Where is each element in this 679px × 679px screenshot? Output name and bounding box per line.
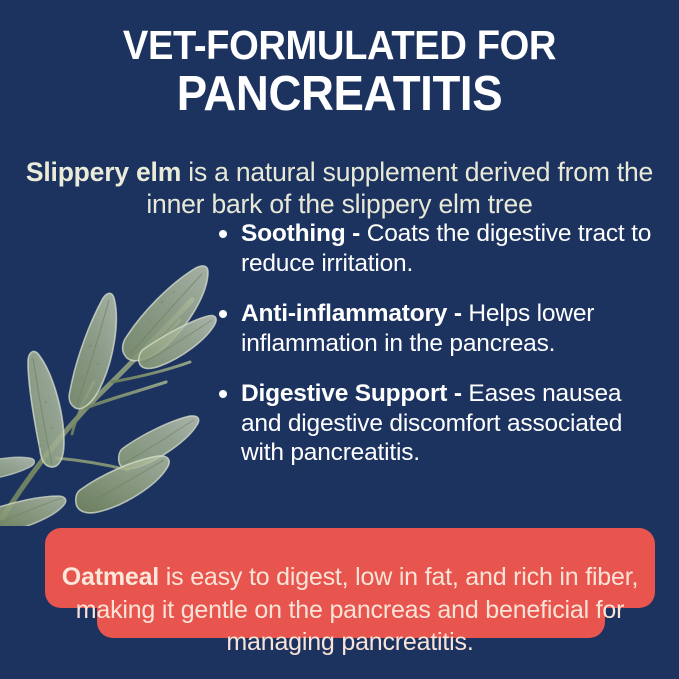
title-line-1: VET-FORMULATED FOR [24, 22, 655, 68]
subtitle-lead: Slippery elm [26, 157, 181, 187]
callout-lead: Oatmeal [62, 563, 159, 591]
callout-rest: is easy to digest, low in fat, and rich … [76, 563, 638, 656]
leaf-branch-icon [0, 196, 224, 526]
callout-text: Oatmeal is easy to digest, low in fat, a… [45, 561, 655, 659]
title-line-2: PANCREATITIS [24, 68, 655, 121]
benefit-term: Soothing - [241, 220, 367, 247]
list-item: Soothing - Coats the digestive tract to … [213, 219, 665, 278]
page-title: VET-FORMULATED FOR PANCREATITIS [0, 22, 679, 121]
list-item: Digestive Support - Eases nausea and dig… [213, 379, 665, 468]
benefits-list: Soothing - Coats the digestive tract to … [213, 219, 665, 468]
bullet-dot-icon [219, 310, 227, 318]
bullet-dot-icon [219, 390, 227, 398]
pancreatitis-supplement-infographic: VET-FORMULATED FOR PANCREATITIS Slippery… [0, 0, 679, 679]
subtitle-rest: is a natural supplement derived from the… [146, 157, 653, 219]
benefit-term: Digestive Support - [241, 380, 468, 407]
bullet-dot-icon [219, 230, 227, 238]
benefit-term: Anti-inflammatory - [241, 300, 468, 327]
subtitle: Slippery elm is a natural supplement der… [14, 156, 665, 220]
list-item: Anti-inflammatory - Helps lower inflamma… [213, 299, 665, 358]
oatmeal-callout: Oatmeal is easy to digest, low in fat, a… [0, 528, 679, 640]
